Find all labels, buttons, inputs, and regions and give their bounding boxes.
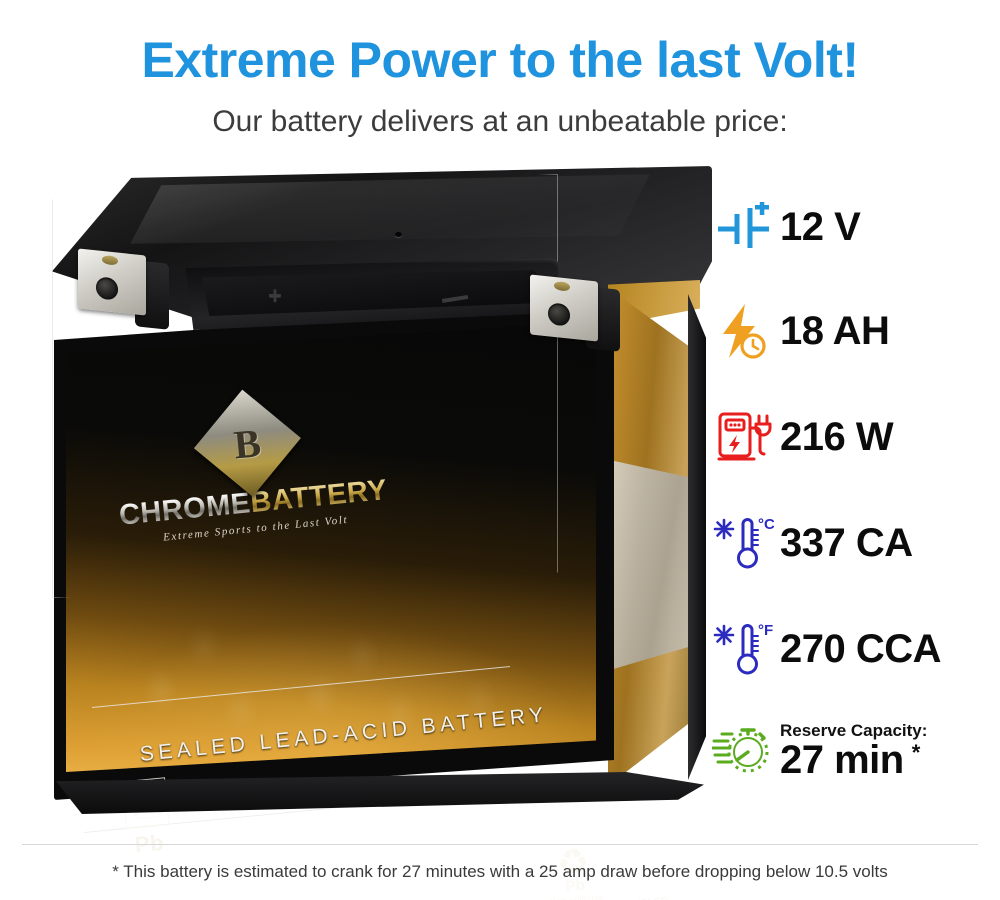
battery-rear-edge	[688, 294, 706, 780]
spec-value-reserve-capacity: 27 min	[780, 740, 904, 780]
thermometer-fahrenheit-icon: °F	[706, 614, 780, 684]
spec-row-amp-hours: 18 AH	[706, 292, 1000, 370]
spec-row-cranking-amps: °C 337 CA	[706, 504, 1000, 582]
svg-text:°F: °F	[758, 622, 773, 639]
reserve-capacity-value-row: 27 min *	[780, 740, 927, 780]
terminal-bolt-hole	[548, 302, 570, 326]
terminal-screw	[554, 281, 570, 292]
battery-body: + B CHROMEBATTERY Extreme Sports to the …	[40, 160, 710, 830]
spec-value-cold-cranking-amps: 270 CCA	[780, 629, 941, 669]
spec-row-cold-cranking-amps: °F 270 CCA	[706, 610, 1000, 688]
stopwatch-icon	[706, 716, 780, 786]
battery-product-image: + B CHROMEBATTERY Extreme Sports to the …	[30, 160, 720, 830]
spec-row-watts: 216 W	[706, 398, 1000, 476]
footnote-asterisk: *	[912, 742, 921, 764]
spec-value-amp-hours: 18 AH	[780, 311, 889, 351]
positive-terminal-marking: +	[262, 282, 288, 308]
svg-text:°C: °C	[758, 516, 774, 533]
spec-value-voltage: 12 V	[780, 207, 860, 247]
reserve-capacity-block: Reserve Capacity: 27 min *	[780, 722, 927, 780]
specification-list: 12 V 18 AH	[706, 188, 1000, 798]
charging-station-icon	[706, 402, 780, 472]
battery-side-strip	[610, 460, 696, 670]
battery-cell-icon	[706, 192, 780, 262]
page-title: Extreme Power to the last Volt!	[0, 34, 1000, 87]
spec-value-cranking-amps: 337 CA	[780, 523, 913, 563]
spec-value-watts: 216 W	[780, 417, 893, 457]
battery-terminal-positive	[78, 248, 146, 315]
footnote-text: * This battery is estimated to crank for…	[0, 862, 1000, 882]
infographic-page: Extreme Power to the last Volt! Our batt…	[0, 0, 1000, 900]
thermometer-celsius-icon: °C	[706, 508, 780, 578]
spec-row-reserve-capacity: Reserve Capacity: 27 min *	[706, 712, 1000, 790]
footnote-divider	[22, 844, 978, 845]
page-subtitle: Our battery delivers at an unbeatable pr…	[0, 104, 1000, 140]
spec-row-voltage: 12 V	[706, 188, 1000, 266]
terminal-bolt-hole	[96, 276, 118, 300]
brand-logo-letter: B	[232, 418, 263, 467]
lightning-clock-icon	[706, 296, 780, 366]
battery-terminal-negative	[530, 274, 598, 341]
terminal-screw	[102, 255, 118, 266]
